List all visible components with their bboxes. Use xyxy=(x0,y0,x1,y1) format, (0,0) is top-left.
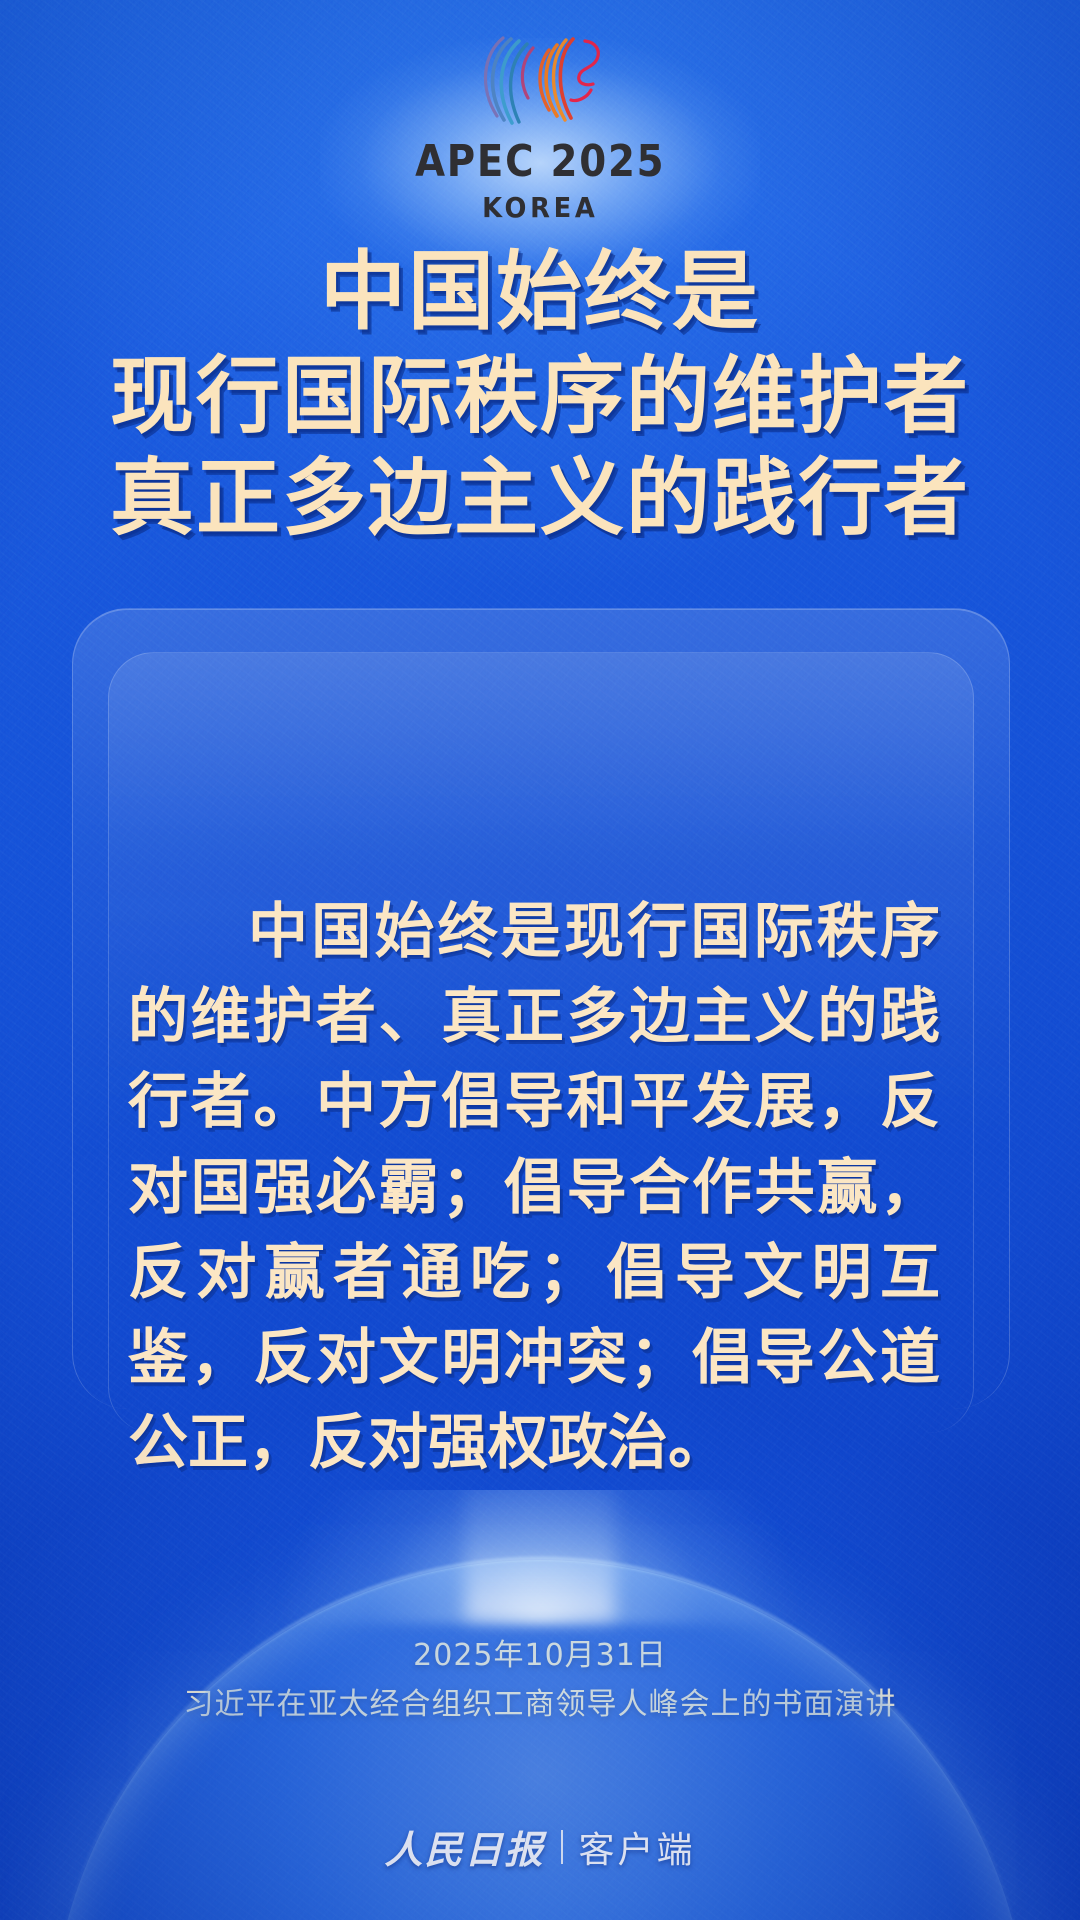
apec-2025-korea-emblem-icon xyxy=(445,28,635,136)
headline-line-1: 中国始终是 xyxy=(0,240,1080,345)
quote-body-text: 中国始终是现行国际秩序的维护者、真正多边主义的践行者。中方倡导和平发展，反对国强… xyxy=(128,890,940,1486)
headline-line-2: 现行国际秩序的维护者 xyxy=(0,345,1080,447)
logo-apec-year: APEC 2025 xyxy=(415,140,665,184)
earth-light-beam xyxy=(465,1490,615,1620)
headline-block: 中国始终是 现行国际秩序的维护者 真正多边主义的践行者 xyxy=(0,240,1080,550)
brand-product-name: 客户端 xyxy=(579,1821,696,1873)
caption-description: 习近平在亚太经合组织工商领导人峰会上的书面演讲 xyxy=(0,1683,1080,1727)
source-caption: 2025年10月31日 习近平在亚太经合组织工商领导人峰会上的书面演讲 xyxy=(0,1636,1080,1726)
apec-logo-block: APEC 2025 KOREA xyxy=(0,28,1080,222)
caption-date: 2025年10月31日 xyxy=(0,1636,1080,1677)
headline-line-3: 真正多边主义的践行者 xyxy=(0,447,1080,549)
brand-divider xyxy=(561,1830,563,1864)
brand-publisher-name: 人民日报 xyxy=(384,1819,544,1874)
earth-sunrise-flare xyxy=(280,1490,800,1624)
publisher-brand: 人民日报 客户端 xyxy=(0,1819,1080,1874)
logo-host-country: KOREA xyxy=(482,194,598,222)
poster-canvas: APEC 2025 KOREA 中国始终是 现行国际秩序的维护者 真正多边主义的… xyxy=(0,0,1080,1920)
